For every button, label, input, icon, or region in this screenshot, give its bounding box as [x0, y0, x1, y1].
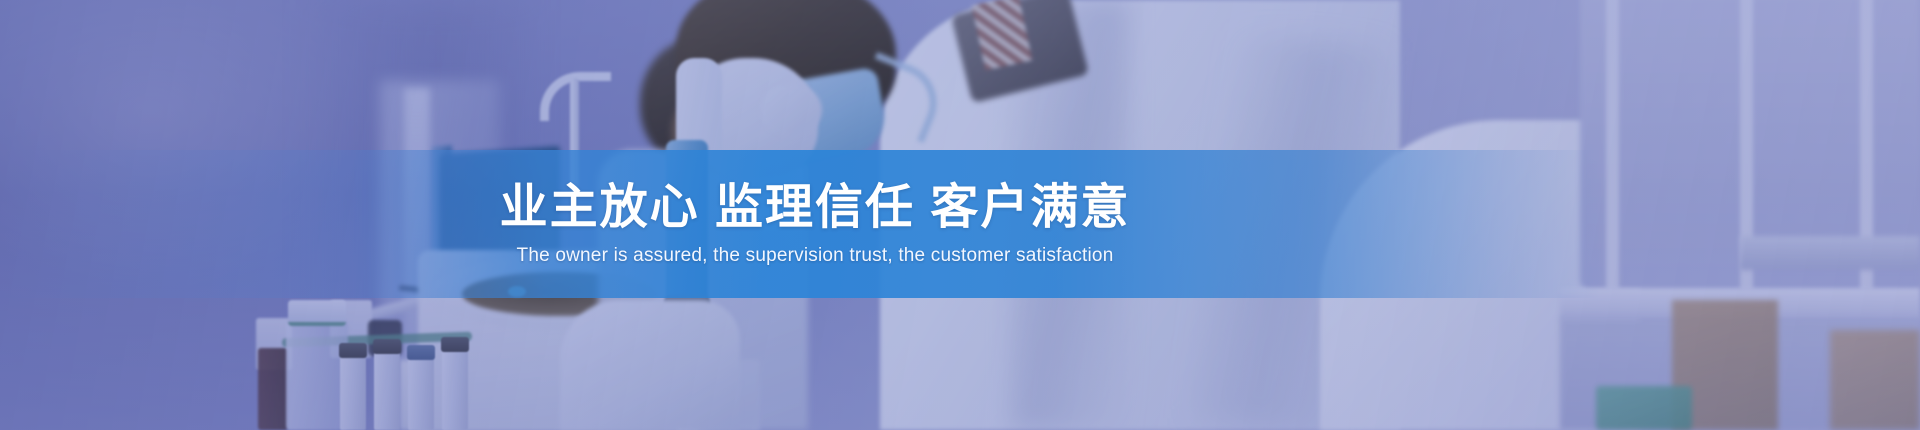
banner-headline: 业主放心 监理信任 客户满意: [470, 184, 1131, 232]
hero-banner: 业主放心 监理信任 客户满意 The owner is assured, the…: [0, 0, 1920, 430]
caption-band: 业主放心 监理信任 客户满意 The owner is assured, the…: [0, 150, 1600, 298]
banner-subline: The owner is assured, the supervision tr…: [487, 246, 1114, 265]
caption-band-content: 业主放心 监理信任 客户满意 The owner is assured, the…: [0, 150, 1600, 298]
